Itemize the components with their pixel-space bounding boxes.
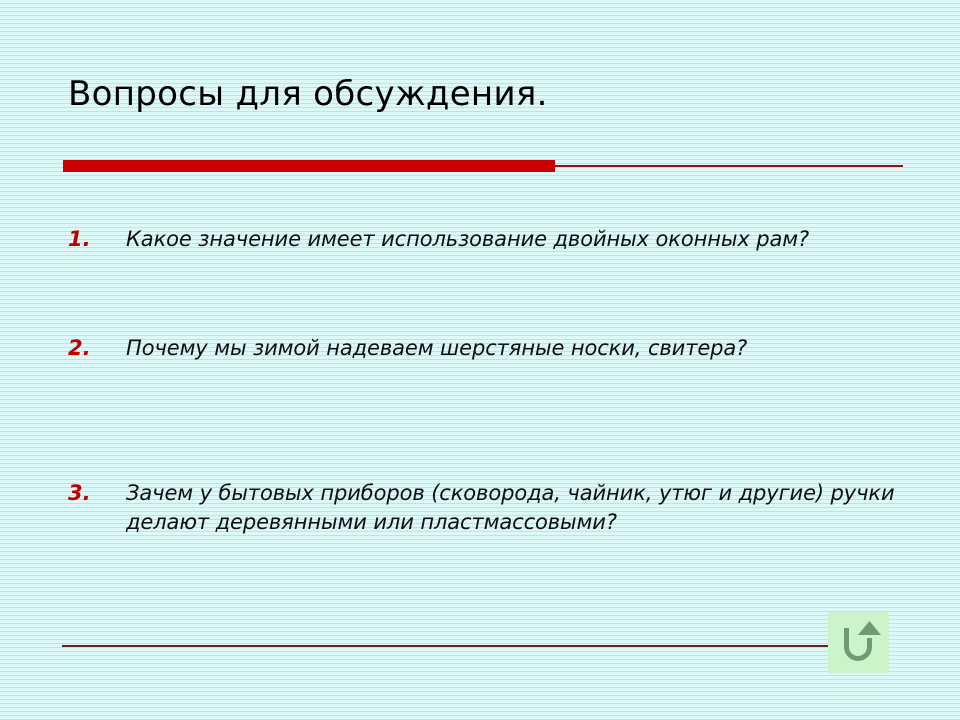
list-item-text: Почему мы зимой надеваем шерстяные носки… (126, 334, 806, 363)
list-item-text: Зачем у бытовых приборов (сковорода, чай… (126, 479, 896, 537)
return-button[interactable] (828, 612, 889, 673)
page-title: Вопросы для обсуждения. (68, 74, 908, 114)
list-item-number: 1. (68, 225, 110, 254)
slide-canvas: Вопросы для обсуждения. 1. Какое значени… (0, 0, 960, 720)
list-item: 2. Почему мы зимой надеваем шерстяные но… (68, 334, 908, 363)
list-item-text: Какое значение имеет использование двойн… (126, 225, 816, 254)
footer-divider (62, 645, 830, 647)
list-item: 1. Какое значение имеет использование дв… (68, 225, 908, 254)
u-turn-arrow-icon (836, 621, 882, 665)
list-item: 3. Зачем у бытовых приборов (сковорода, … (68, 479, 908, 537)
list-item-number: 2. (68, 334, 110, 363)
list-item-number: 3. (68, 479, 110, 508)
title-underline-accent (63, 160, 555, 172)
